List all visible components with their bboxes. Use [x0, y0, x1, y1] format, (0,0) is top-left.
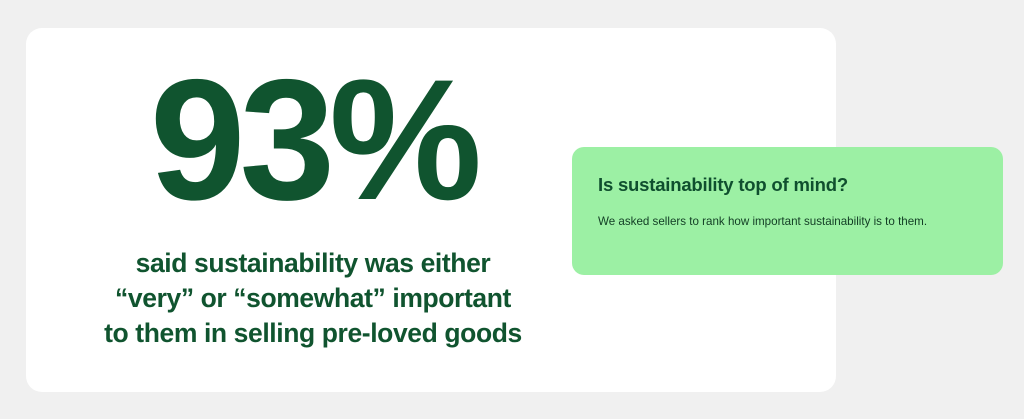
callout-card: Is sustainability top of mind? We asked …: [572, 147, 1003, 275]
callout-subtitle: We asked sellers to rank how important s…: [598, 214, 977, 230]
stat-card-content: 93% said sustainability was either “very…: [26, 28, 600, 392]
stat-graphic-stage: 93% said sustainability was either “very…: [0, 0, 1024, 419]
stat-caption: said sustainability was either “very” or…: [104, 246, 522, 351]
stat-caption-line-1: said sustainability was either: [104, 246, 522, 281]
stat-caption-line-2: “very” or “somewhat” important: [104, 281, 522, 316]
stat-caption-line-3: to them in selling pre-loved goods: [104, 316, 522, 351]
headline-percentage: 93%: [150, 54, 476, 226]
callout-title: Is sustainability top of mind?: [598, 173, 977, 197]
